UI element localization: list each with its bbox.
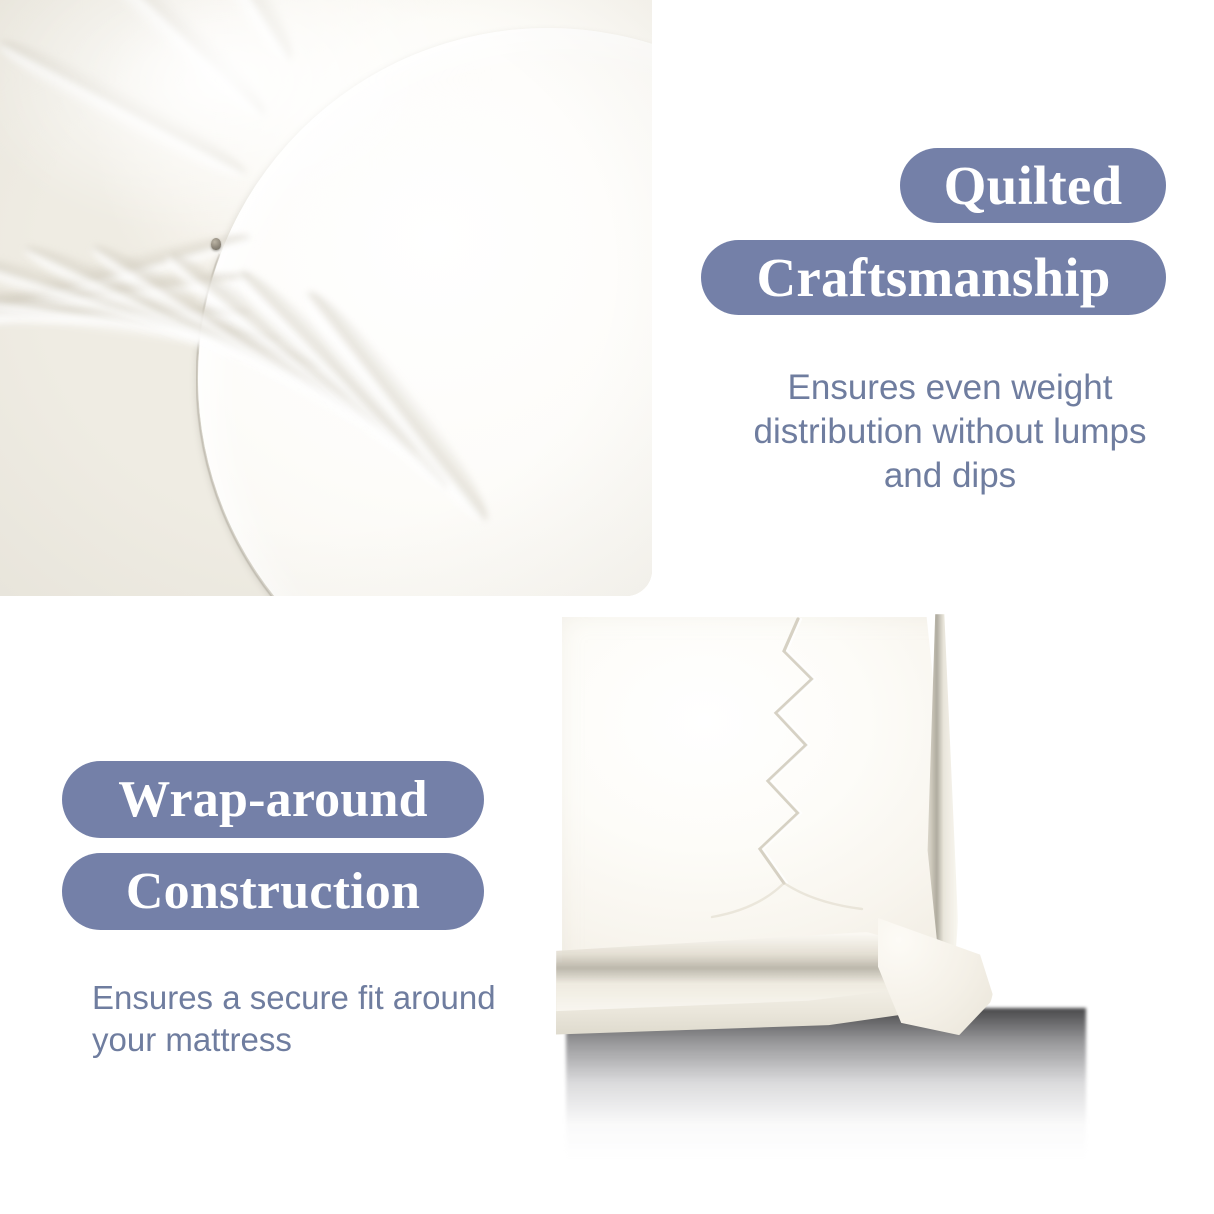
badge-quilted: Quilted [900,148,1166,223]
badge-craftsmanship: Craftsmanship [701,240,1166,315]
description-wrap-around-construction: Ensures a secure fit around your mattres… [92,977,512,1060]
badge-construction: Construction [62,853,484,930]
photo-topper-corner [540,600,1214,1214]
product-feature-infographic: Quilted Craftsmanship Ensures even weigh… [0,0,1214,1214]
photo-quilted-tuft [0,0,652,596]
photo-vignette [0,0,652,596]
badge-wraparound: Wrap-around [62,761,484,838]
description-quilted-craftsmanship: Ensures even weight distribution without… [746,366,1154,498]
